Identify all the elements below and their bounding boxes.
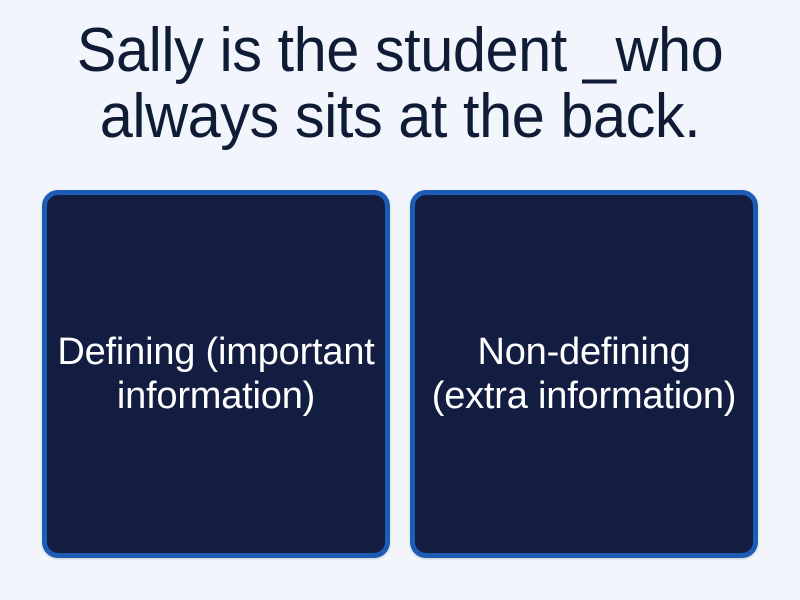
answer-options-list: Defining (important information) Non-def…: [0, 180, 800, 600]
answer-option-defining[interactable]: Defining (important information): [42, 190, 390, 558]
answer-option-non-defining[interactable]: Non-defining (extra information): [410, 190, 758, 558]
question-prompt: Sally is the student _who always sits at…: [33, 18, 766, 150]
question-area: Sally is the student _who always sits at…: [0, 0, 800, 180]
answer-option-label: Non-defining (extra information): [425, 330, 743, 418]
quiz-slide: Sally is the student _who always sits at…: [0, 0, 800, 600]
answer-option-label: Defining (important information): [57, 330, 375, 418]
